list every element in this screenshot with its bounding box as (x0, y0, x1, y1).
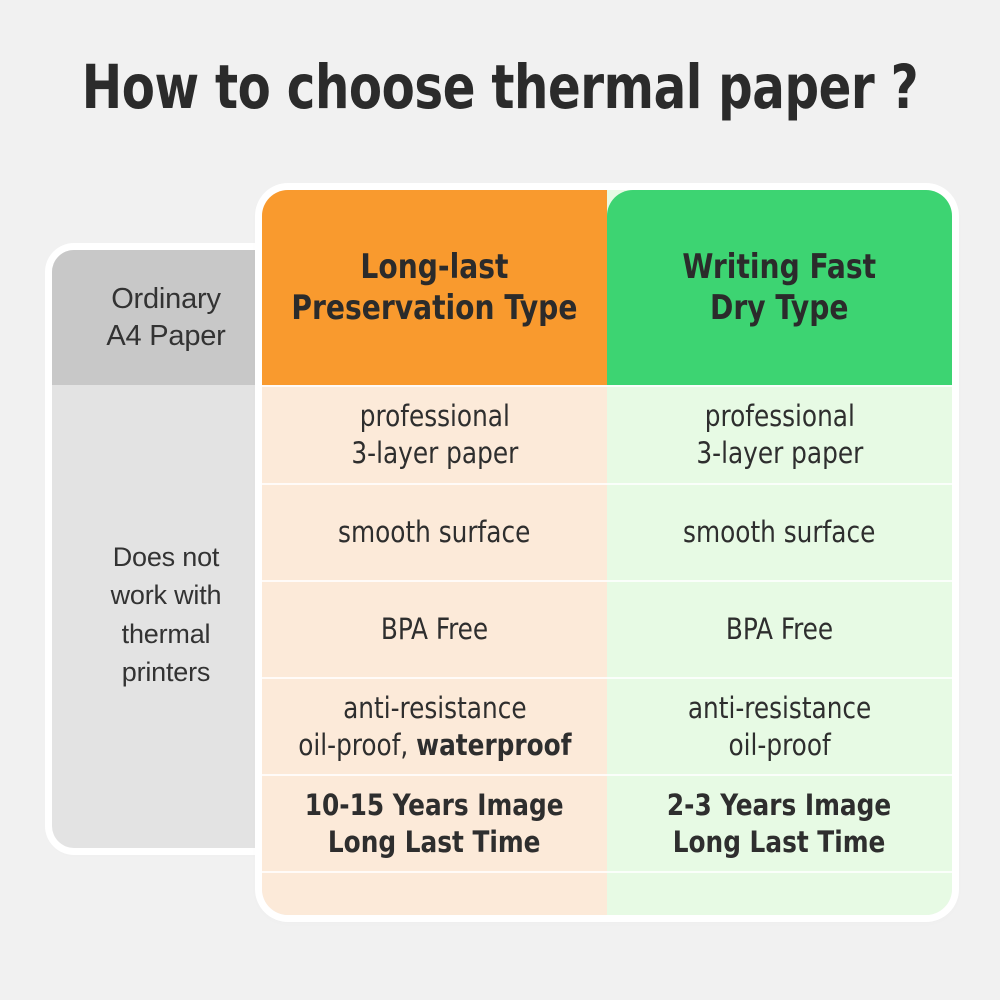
cell-text: professional 3-layer paper (696, 398, 863, 471)
cell-text: smooth surface (683, 514, 875, 551)
header-line-2: Preservation Type (291, 288, 577, 328)
cell-line-2: 3-layer paper (696, 436, 863, 470)
ordinary-body-line-4: printers (122, 657, 210, 687)
cell-orange-row-5: 10-15 Years Image Long Last Time (262, 774, 607, 871)
comparison-card: Long-last Preservation Type professional… (262, 190, 952, 915)
cell-line-2-emphasis: waterproof (416, 728, 571, 762)
ordinary-paper-body-text: Does not work with thermal printers (111, 538, 222, 691)
header-line-1: Long-last (360, 247, 508, 287)
cell-orange-row-blank (262, 871, 607, 915)
ordinary-paper-header-text: Ordinary A4 Paper (106, 281, 225, 354)
ordinary-body-line-3: thermal (122, 619, 211, 649)
cell-text: smooth surface (338, 514, 530, 551)
cell-green-row-5: 2-3 Years Image Long Last Time (607, 774, 952, 871)
cell-line-1: professional (359, 399, 509, 433)
ordinary-body-line-2: work with (111, 580, 222, 610)
column-header-long-last-preservation: Long-last Preservation Type (262, 190, 607, 385)
cell-line-1: BPA Free (381, 612, 488, 646)
comparison-infographic: How to choose thermal paper ? Ordinary A… (0, 0, 1000, 1000)
cell-orange-row-2: smooth surface (262, 483, 607, 580)
cell-line-1: 10-15 Years Image (305, 788, 564, 822)
cell-line-2: oil-proof (728, 728, 830, 762)
cell-green-row-3: BPA Free (607, 580, 952, 677)
ordinary-header-line-1: Ordinary (111, 283, 221, 315)
cell-orange-row-1: professional 3-layer paper (262, 385, 607, 483)
cell-line-1: 2-3 Years Image (667, 788, 891, 822)
cell-line-1: anti-resistance (688, 691, 871, 725)
header-line-2: Dry Type (710, 288, 848, 328)
cell-orange-row-3: BPA Free (262, 580, 607, 677)
cell-text: BPA Free (726, 611, 833, 648)
ordinary-header-line-2: A4 Paper (106, 320, 225, 352)
column-header-writing-fast-dry: Writing Fast Dry Type (607, 190, 952, 385)
cell-green-row-2: smooth surface (607, 483, 952, 580)
ordinary-body-line-1: Does not (113, 542, 219, 572)
cell-line-1: smooth surface (683, 515, 875, 549)
ordinary-paper-card: Ordinary A4 Paper Does not work with the… (52, 250, 280, 848)
cell-green-row-1: professional 3-layer paper (607, 385, 952, 483)
cell-line-1: professional (704, 399, 854, 433)
cell-line-2: oil-proof, (298, 728, 416, 762)
cell-line-1: BPA Free (726, 612, 833, 646)
cell-text: 2-3 Years Image Long Last Time (667, 787, 891, 860)
ordinary-paper-body: Does not work with thermal printers (52, 385, 280, 848)
cell-text: BPA Free (381, 611, 488, 648)
cell-green-row-4: anti-resistance oil-proof (607, 677, 952, 774)
cell-line-2: 3-layer paper (351, 436, 518, 470)
cell-text: 10-15 Years Image Long Last Time (305, 787, 564, 860)
cell-text: anti-resistance oil-proof (688, 690, 871, 763)
cell-line-2: Long Last Time (328, 825, 541, 859)
ordinary-paper-header: Ordinary A4 Paper (52, 250, 280, 385)
cell-orange-row-4: anti-resistance oil-proof, waterproof (262, 677, 607, 774)
column-writing-fast-dry: Writing Fast Dry Type professional 3-lay… (607, 190, 952, 915)
column-header-text: Long-last Preservation Type (291, 247, 577, 327)
header-line-1: Writing Fast (683, 247, 877, 287)
page-title: How to choose thermal paper ? (60, 52, 940, 123)
cell-line-1: anti-resistance (343, 691, 526, 725)
cell-line-1: smooth surface (338, 515, 530, 549)
column-header-text: Writing Fast Dry Type (683, 247, 877, 327)
column-long-last-preservation: Long-last Preservation Type professional… (262, 190, 607, 915)
cell-green-row-blank (607, 871, 952, 915)
cell-text: anti-resistance oil-proof, waterproof (298, 690, 571, 763)
cell-text: professional 3-layer paper (351, 398, 518, 471)
cell-line-2: Long Last Time (673, 825, 886, 859)
